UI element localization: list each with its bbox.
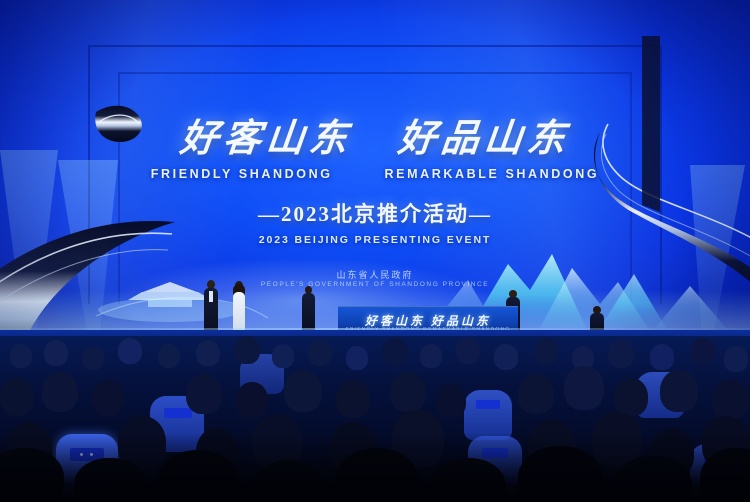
audience-person	[494, 344, 518, 370]
audience-person	[44, 340, 68, 366]
main-title-row: 好客山东 好品山东	[0, 120, 750, 160]
audience-person	[690, 338, 716, 366]
audience-person	[10, 344, 32, 368]
main-subtitle-row: FRIENDLY SHANDONG REMARKABLE SHANDONG	[0, 167, 750, 181]
audience-person	[346, 346, 368, 370]
audience-person	[518, 374, 554, 414]
audience-person	[0, 378, 34, 416]
event-line-en: 2023 BEIJING PRESENTING EVENT	[0, 234, 750, 246]
audience-person	[436, 384, 466, 418]
audience-person	[564, 366, 604, 410]
host-female-dress	[233, 292, 245, 332]
audience-person	[42, 372, 78, 412]
audience-person	[660, 370, 698, 412]
audience-person	[614, 378, 648, 416]
audience-person	[186, 374, 222, 414]
stage-person-host-male	[203, 280, 219, 332]
stage-person-center-right	[301, 286, 316, 332]
organizer-cn: 山东省人民政府	[0, 268, 750, 281]
audience-person	[382, 338, 408, 366]
audience-person	[236, 382, 268, 418]
main-title-right-cn: 好品山东	[396, 120, 572, 160]
organizer-en: PEOPLE'S GOVERNMENT OF SHANDONG PROVINCE	[0, 281, 750, 288]
audience-person	[234, 336, 260, 364]
audience-person	[390, 372, 426, 412]
audience-person	[420, 344, 442, 368]
audience-person	[608, 340, 634, 368]
event-line-cn: —2023北京推介活动—	[0, 198, 750, 228]
audience-person	[456, 338, 480, 364]
stage-person-host-female	[231, 281, 247, 332]
audience-person	[118, 338, 142, 364]
main-title-left-en: FRIENDLY SHANDONG	[151, 167, 333, 181]
audience-person	[650, 344, 674, 370]
audience-person	[272, 344, 294, 368]
audience-person	[82, 346, 104, 370]
chair-name-card	[164, 408, 192, 418]
audience-person	[724, 346, 748, 372]
main-title-right-en: REMARKABLE SHANDONG	[385, 167, 600, 181]
audience-person	[196, 340, 220, 366]
audience-person	[284, 370, 322, 412]
audience-person	[336, 380, 370, 418]
audience-person	[534, 338, 558, 364]
audience-person	[308, 340, 332, 366]
audience-person	[158, 344, 180, 368]
conference-stage-photo: 好客山东 好品山东 FRIENDLY SHANDONG REMARKABLE S…	[0, 0, 750, 502]
chair-name-card	[476, 400, 500, 409]
host-male-shirt	[209, 291, 213, 302]
audience-person	[712, 380, 748, 420]
main-title-left-cn: 好客山东	[178, 120, 354, 160]
audience-foreground-shadow	[0, 432, 750, 502]
backdrop-title-block: 好客山东 好品山东 FRIENDLY SHANDONG REMARKABLE S…	[0, 120, 750, 246]
audience-person	[92, 380, 124, 416]
audience-area	[0, 336, 750, 502]
center-right-body	[302, 293, 315, 332]
